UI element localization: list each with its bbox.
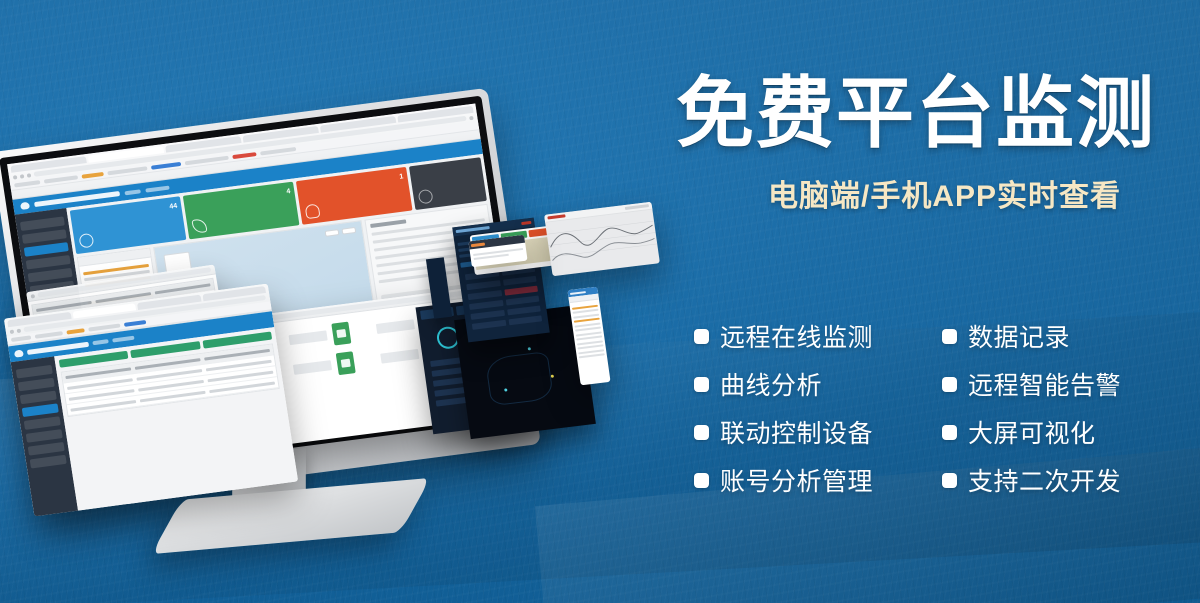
reload-icon[interactable] — [27, 173, 32, 177]
bookmark-item[interactable] — [11, 335, 31, 342]
sidebar-item-home[interactable] — [16, 365, 53, 379]
device-label — [380, 349, 419, 364]
device-status-card[interactable] — [331, 322, 351, 346]
bookmark-item[interactable] — [107, 166, 147, 175]
map-node — [551, 375, 554, 378]
bookmark-item[interactable] — [14, 180, 40, 187]
back-icon[interactable] — [13, 175, 18, 179]
feature-label: 大屏可视化 — [968, 414, 1096, 450]
bookmark-item[interactable] — [124, 320, 146, 327]
star-icon[interactable] — [469, 115, 474, 119]
page-title: 免费平台监测 — [676, 72, 1176, 155]
chart-legend — [625, 204, 649, 210]
feature-item-6: 账号分析管理 — [694, 456, 942, 504]
sidebar-item-monitor[interactable] — [22, 229, 67, 244]
page-subtitle: 电脑端/手机APP实时查看 — [768, 171, 1176, 215]
feature-label: 远程在线监测 — [720, 318, 873, 354]
kpi-value: 44 — [169, 202, 178, 212]
feature-label: 数据记录 — [968, 318, 1070, 354]
nav-menu-item[interactable] — [92, 339, 108, 345]
sidebar-item-logs[interactable] — [28, 442, 65, 456]
mobile-title — [570, 291, 586, 295]
bookmark-item[interactable] — [88, 323, 120, 331]
sidebar-item-selected[interactable] — [22, 403, 59, 417]
bookmark-item[interactable] — [151, 162, 181, 170]
device-illustration: 44 4 1 — [0, 0, 676, 603]
feature-item-0: 远程在线监测 — [694, 312, 942, 360]
bullet-icon — [942, 425, 957, 440]
map-node — [528, 347, 531, 350]
bullet-icon — [942, 329, 957, 344]
feature-label: 联动控制设备 — [720, 414, 873, 450]
chart-logo — [547, 214, 565, 219]
device-icon — [341, 359, 351, 368]
sidebar-item-alarm[interactable] — [24, 416, 61, 430]
device-status-card[interactable] — [336, 351, 356, 375]
feature-list: 远程在线监测 数据记录 曲线分析 远程智能告警 联动控制设备 大屏可视化 账号分… — [694, 312, 1152, 504]
sidebar-item-records[interactable] — [28, 268, 73, 283]
bell-icon — [305, 203, 321, 219]
device-label — [376, 319, 415, 334]
feature-item-3: 远程智能告警 — [942, 360, 1152, 408]
bullet-icon — [694, 377, 709, 392]
device-icon — [336, 329, 346, 338]
map-zoom-button[interactable] — [341, 227, 356, 235]
bullet-icon — [694, 425, 709, 440]
feature-item-2: 曲线分析 — [694, 360, 942, 408]
cloud-logo-icon — [14, 349, 24, 357]
bullet-icon — [694, 329, 709, 344]
bookmark-item[interactable] — [35, 331, 63, 339]
device-label — [289, 330, 328, 345]
sidebar-item-history[interactable] — [26, 429, 63, 443]
feature-label: 支持二次开发 — [968, 462, 1121, 498]
feature-item-5: 大屏可视化 — [942, 408, 1152, 456]
signal-off-icon — [418, 189, 434, 205]
sidebar-item-devices[interactable] — [24, 242, 69, 257]
sidebar-item-monitor[interactable] — [18, 378, 55, 392]
forward-icon[interactable] — [17, 328, 22, 332]
bookmark-item[interactable] — [232, 152, 256, 159]
chart-window[interactable] — [544, 202, 660, 277]
map-layer-button[interactable] — [325, 229, 340, 237]
bullet-icon — [942, 377, 957, 392]
feature-item-1: 数据记录 — [942, 312, 1152, 360]
bullet-icon — [694, 473, 709, 488]
leaf-icon — [191, 218, 207, 234]
promo-banner: 44 4 1 — [0, 0, 1200, 603]
back-icon[interactable] — [30, 294, 35, 299]
kpi-value: 4 — [286, 187, 291, 197]
popup-badge — [471, 242, 485, 247]
sidebar-item-center[interactable] — [20, 391, 57, 405]
feature-label: 曲线分析 — [720, 366, 822, 402]
bookmark-item[interactable] — [44, 175, 78, 183]
bookmark-item[interactable] — [66, 328, 84, 334]
feature-label: 远程智能告警 — [968, 366, 1121, 402]
dark-cell — [472, 320, 506, 330]
bullet-icon — [942, 473, 957, 488]
dark-cell — [508, 315, 542, 325]
feature-item-7: 支持二次开发 — [942, 456, 1152, 504]
cloud-logo-icon — [20, 202, 30, 210]
kpi-card-offline[interactable] — [409, 157, 487, 210]
close-icon[interactable] — [521, 221, 531, 225]
nav-menu-item[interactable] — [124, 189, 140, 195]
sidebar-item-home[interactable] — [20, 216, 65, 231]
records-window[interactable] — [4, 284, 298, 517]
map-outline — [485, 351, 554, 406]
back-icon[interactable] — [10, 329, 15, 333]
nav-menu-item[interactable] — [145, 185, 169, 192]
bookmark-item[interactable] — [260, 147, 296, 156]
forward-icon[interactable] — [20, 174, 25, 178]
sidebar-item-settings[interactable] — [30, 455, 67, 469]
kpi-value: 1 — [399, 172, 404, 182]
device-label — [293, 360, 332, 375]
feature-label: 账号分析管理 — [720, 462, 873, 498]
headline-block: 免费平台监测 电脑端/手机APP实时查看 — [676, 72, 1176, 215]
nav-menu-item[interactable] — [112, 336, 134, 343]
bookmark-item[interactable] — [81, 172, 103, 179]
device-icon — [78, 233, 94, 249]
mobile-list-item[interactable] — [579, 353, 605, 358]
sidebar-item-alarm[interactable] — [26, 255, 71, 270]
feature-item-4: 联动控制设备 — [694, 408, 942, 456]
